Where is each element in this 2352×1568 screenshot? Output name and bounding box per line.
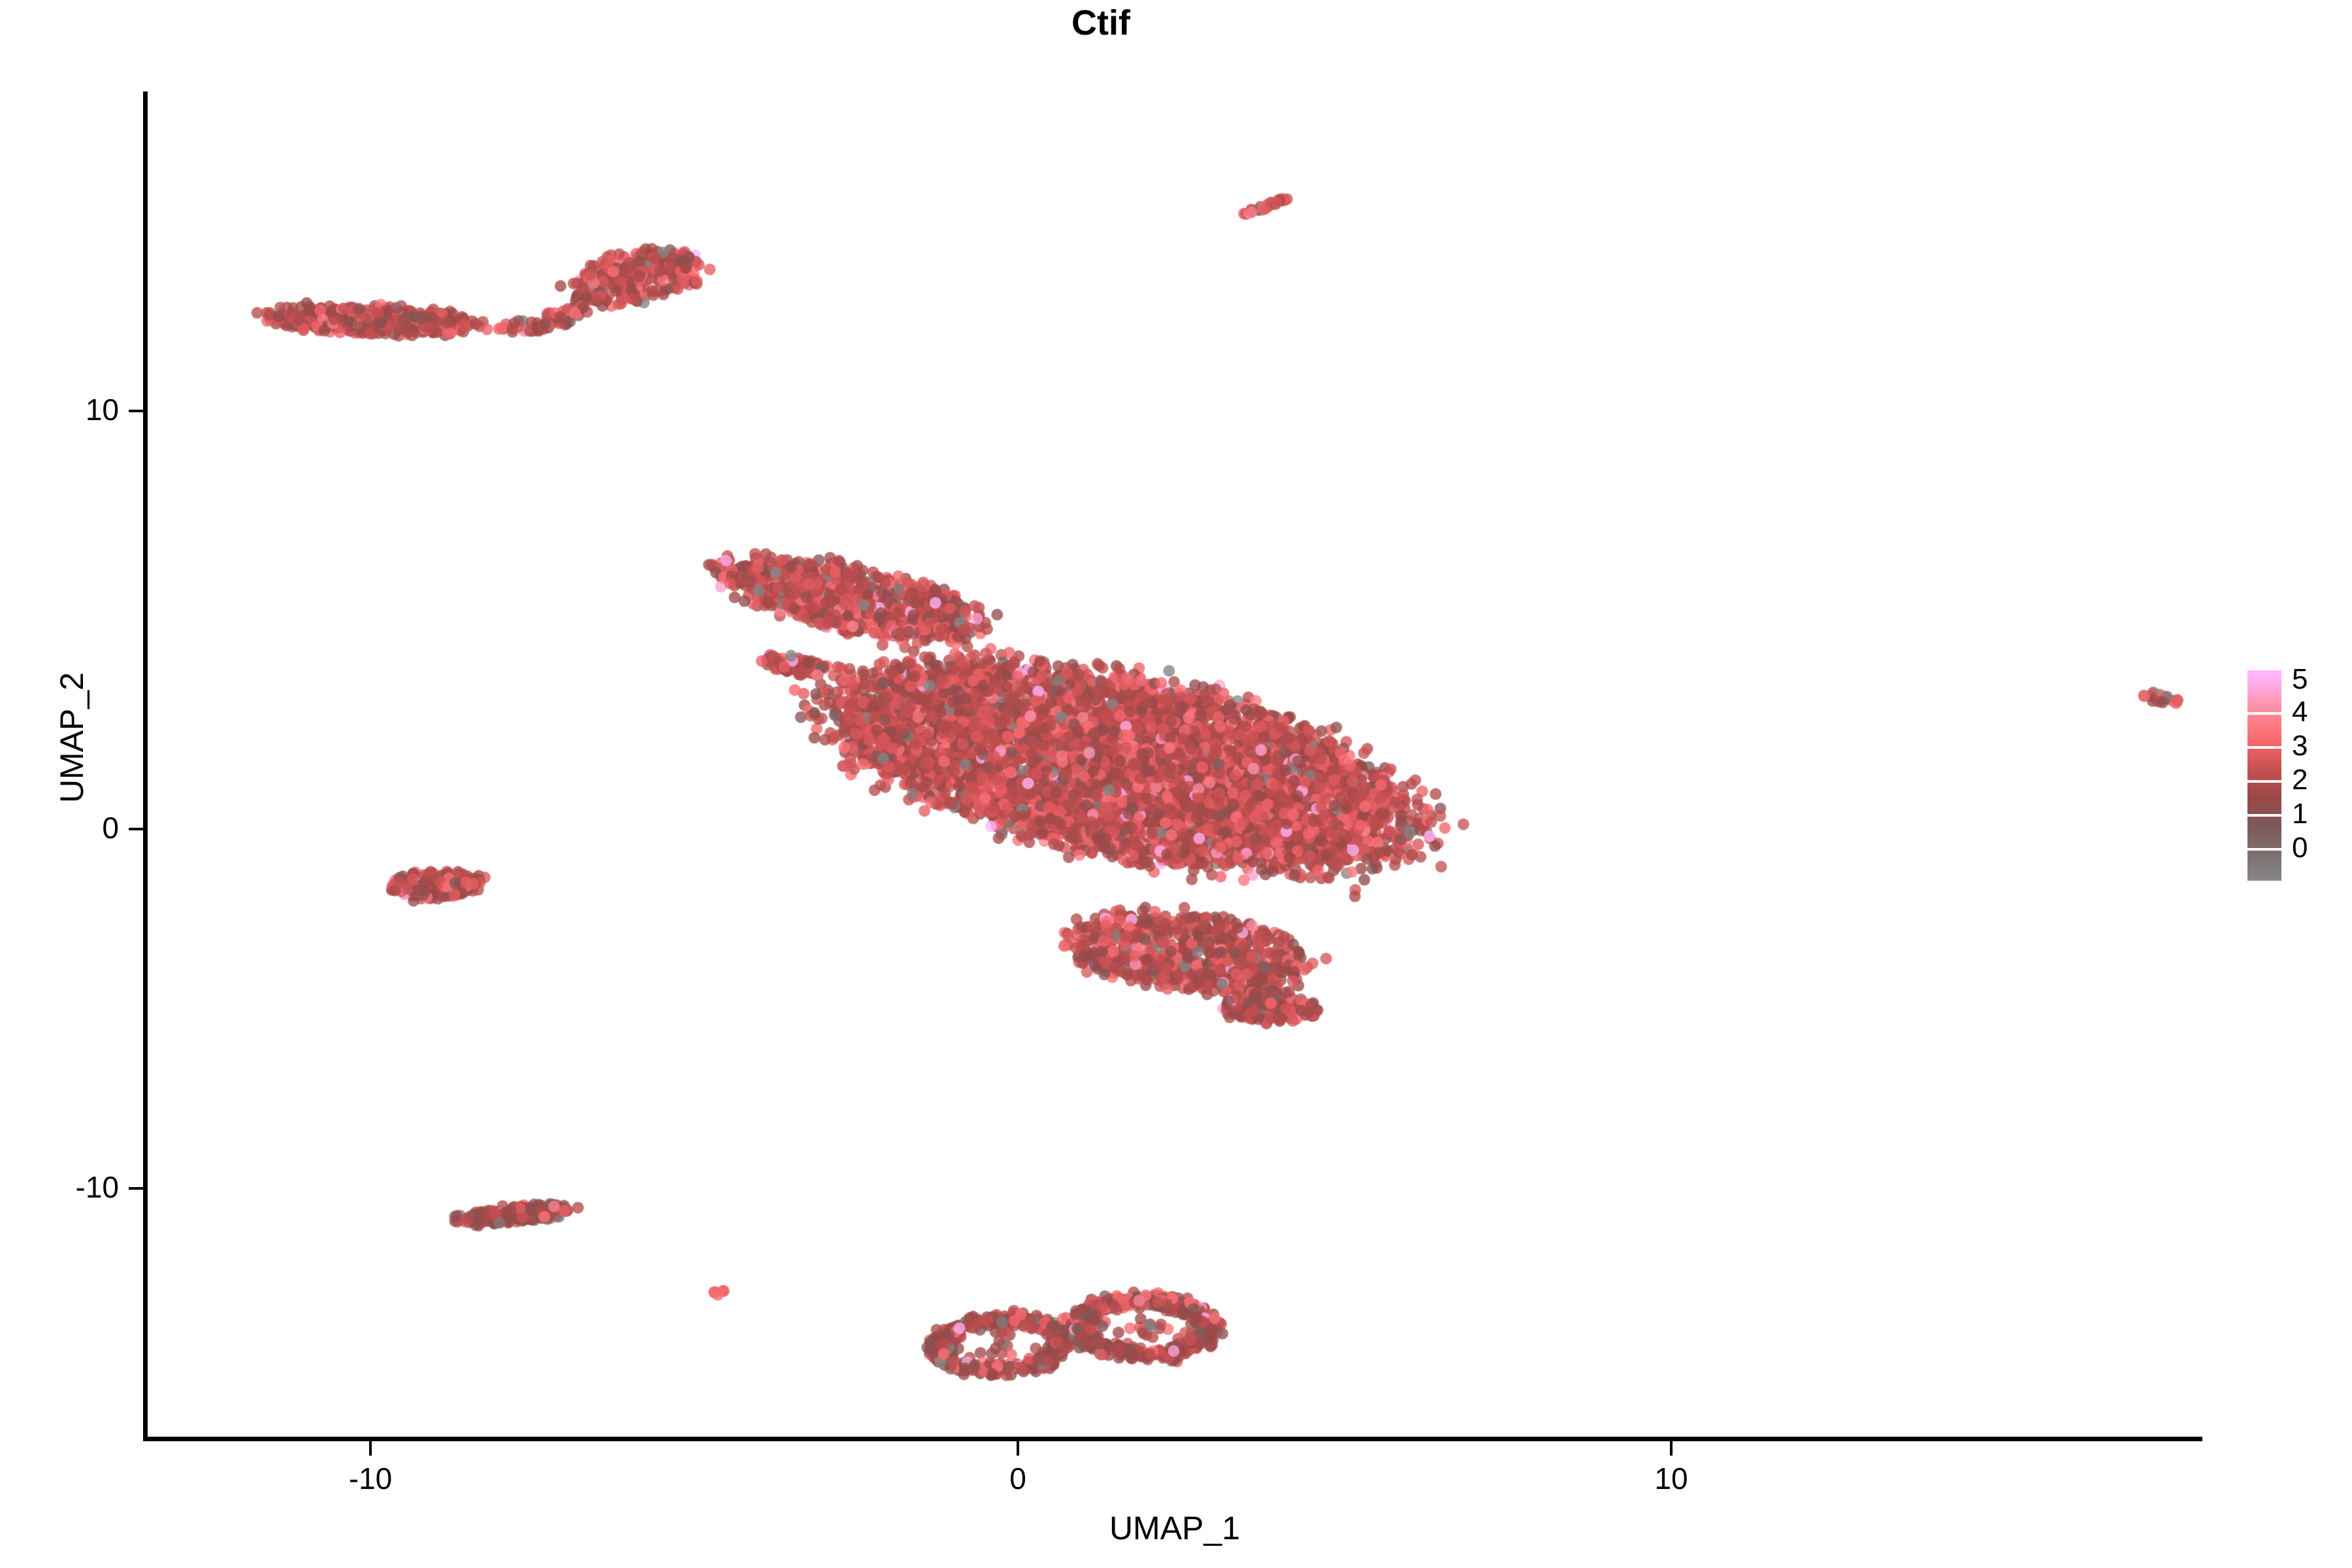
colorbar-tick-mark (2247, 848, 2281, 851)
x-axis-tick-label: 0 (946, 1462, 1090, 1495)
y-axis-label: UMAP_2 (53, 672, 91, 803)
colorbar-tick-label: 1 (2292, 800, 2308, 828)
x-axis-tick-mark (1017, 1441, 1019, 1456)
colorbar-gradient (2247, 670, 2281, 883)
colorbar-tick-mark (2247, 780, 2281, 783)
colorbar-tick-mark (2247, 712, 2281, 715)
y-axis-line (143, 91, 148, 1441)
colorbar-tick-label: 3 (2292, 732, 2308, 760)
chart-root: Ctif -10 0 10 10 0 -10 UMAP_1 UMAP_2 5 4… (0, 0, 2352, 1568)
colorbar-tick-mark (2247, 881, 2281, 883)
plot-panel (147, 91, 2202, 1439)
colorbar-tick-label: 4 (2292, 698, 2308, 727)
y-axis-tick-mark (129, 1187, 143, 1190)
y-axis-tick-mark (129, 410, 143, 412)
x-axis-tick-mark (369, 1441, 372, 1456)
colorbar-tick-label: 5 (2292, 665, 2308, 694)
scatter-plot-canvas (147, 91, 2202, 1439)
y-axis-label-wrapper: UMAP_2 (53, 65, 91, 1411)
colorbar-tick-mark (2247, 746, 2281, 749)
page-title: Ctif (0, 5, 2202, 41)
colorbar-tick-label: 2 (2292, 766, 2308, 794)
y-axis-tick-mark (129, 828, 143, 830)
x-axis-line (143, 1437, 2202, 1441)
x-axis-tick-label: -10 (299, 1462, 442, 1495)
x-axis-tick-label: 10 (1599, 1462, 1743, 1495)
colorbar-tick-label: 0 (2292, 834, 2308, 862)
colorbar-tick-mark (2247, 814, 2281, 817)
x-axis-tick-mark (1670, 1441, 1673, 1456)
x-axis-label: UMAP_1 (147, 1509, 2202, 1547)
